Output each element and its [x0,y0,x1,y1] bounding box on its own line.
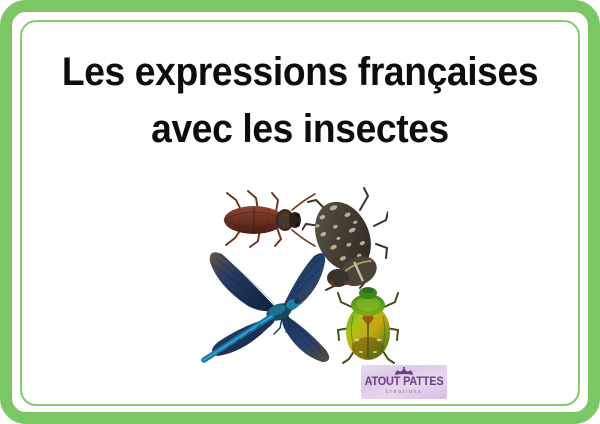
page-title: Les expressions françaises avec les inse… [24,44,576,158]
poster-content: Les expressions françaises avec les inse… [24,24,576,402]
insect-illustration-group [194,184,409,369]
logo-subtitle: créations [361,389,447,395]
rose-chafer-image [337,286,399,366]
brand-logo: ATOUT PATTES créations [361,365,447,399]
title-line-1: Les expressions françaises [43,44,556,101]
logo-name: ATOUT PATTES [363,376,445,388]
damselfly-image [194,246,344,368]
title-line-2: avec les insectes [43,101,556,158]
poster: Les expressions françaises avec les inse… [0,0,600,424]
